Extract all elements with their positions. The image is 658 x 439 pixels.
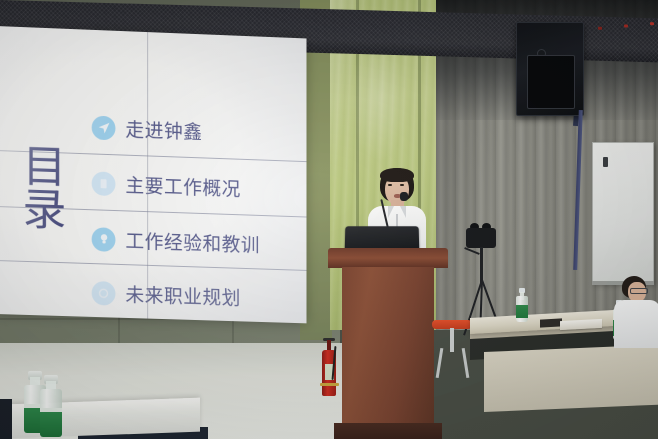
chair-leg: [462, 348, 470, 378]
judge-shirt: [614, 300, 658, 348]
bottle-label: [40, 411, 62, 437]
slide-divider: [0, 260, 307, 271]
podium-body: [342, 267, 434, 425]
bottle-label-top-band: [40, 408, 62, 412]
toc-item-3-label: 工作经验和教训: [125, 226, 260, 257]
indicator-led: [650, 22, 654, 25]
chair-leg: [436, 348, 444, 378]
judges-table-front-panel: [484, 345, 658, 412]
toc-item-3[interactable]: 工作经验和教训: [92, 225, 260, 257]
toc-item-4-label: 未来职业规划: [125, 280, 240, 310]
projection-screen[interactable]: 目录 走进钟鑫 主要工作概况: [0, 26, 307, 323]
presenter-eye-right: [400, 184, 404, 186]
water-bottle[interactable]: [516, 288, 528, 322]
presenter-eye-left: [388, 184, 392, 186]
slide-table-of-contents: 目录 走进钟鑫 主要工作概况: [0, 26, 307, 323]
toc-item-2[interactable]: 主要工作概况: [92, 169, 241, 201]
podium-top: [328, 248, 448, 268]
orange-stacking-chair[interactable]: [432, 320, 472, 378]
tripod-column: [480, 247, 483, 283]
seated-judge: [614, 276, 658, 348]
chair-post: [450, 328, 454, 352]
lightbulb-icon: [92, 227, 116, 252]
foreground-left-shadow: [0, 399, 12, 439]
toc-item-2-label: 主要工作概况: [125, 171, 240, 202]
presentation-scene: 目录 走进钟鑫 主要工作概况: [0, 0, 658, 439]
glasses-icon: [630, 288, 648, 294]
fire-extinguisher: [322, 338, 336, 396]
presenter-fringe: [380, 168, 414, 182]
microphone-head-icon: [400, 192, 408, 201]
screen-panel-seam: [147, 32, 148, 319]
document-icon: [92, 171, 116, 196]
wall-speaker: [516, 22, 584, 116]
send-icon: [92, 115, 116, 140]
magnet-icon: [603, 157, 608, 167]
toc-item-1-label: 走进钟鑫: [125, 115, 202, 145]
wooden-podium: [328, 248, 448, 439]
presenter-collar-right: [400, 206, 406, 218]
water-bottle[interactable]: [40, 375, 62, 437]
bottle-label: [516, 305, 528, 318]
tripod-pan-handle: [464, 247, 480, 255]
toc-item-4[interactable]: 未来职业规划: [92, 279, 241, 310]
table-item-dark: [540, 318, 562, 327]
speaker-woofer-icon: [527, 55, 575, 109]
whiteboard: [592, 142, 654, 284]
podium-base: [334, 423, 442, 439]
camera-body: [466, 228, 496, 248]
presenter-collar-left: [388, 206, 394, 218]
slide-title: 目录: [8, 144, 82, 233]
extinguisher-clamp: [320, 383, 339, 386]
target-icon: [92, 281, 116, 306]
